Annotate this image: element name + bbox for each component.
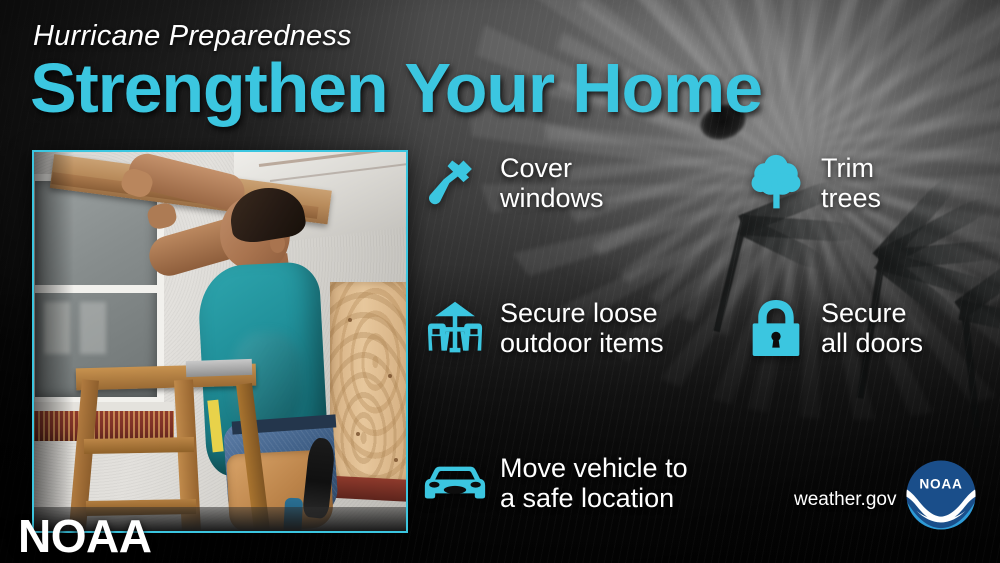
- tip-secure-outdoor-items: Secure loose outdoor items: [424, 297, 664, 359]
- photo-window-reflection: [80, 302, 106, 354]
- hurricane-preparedness-poster: Hurricane Preparedness Strengthen Your H…: [0, 0, 1000, 563]
- photo-plywood-panel: [330, 282, 408, 482]
- tip-label: Secure loose outdoor items: [500, 298, 664, 359]
- car-icon: [424, 452, 486, 514]
- tip-trim-trees: Trim trees: [745, 152, 881, 214]
- tip-label: Cover windows: [500, 153, 604, 214]
- tip-label: Trim trees: [821, 153, 881, 214]
- photo-left-shade: [34, 152, 74, 533]
- hammer-icon: [424, 152, 486, 214]
- page-title: Strengthen Your Home: [30, 53, 762, 123]
- tip-secure-all-doors: Secure all doors: [745, 297, 923, 359]
- photo-ladder-cap: [186, 359, 253, 377]
- noaa-logo[interactable]: NOAA: [905, 459, 977, 531]
- photo-brick-band: [334, 476, 408, 502]
- patio-furniture-icon: [424, 297, 486, 359]
- tip-label: Move vehicle to a safe location: [500, 453, 688, 514]
- tip-move-vehicle: Move vehicle to a safe location: [424, 452, 688, 514]
- weather-gov-url[interactable]: weather.gov: [794, 489, 896, 511]
- preparedness-photo: [32, 150, 408, 533]
- padlock-icon: [745, 297, 807, 359]
- noaa-logo-text: NOAA: [919, 477, 962, 492]
- photo-ladder-step: [84, 437, 194, 454]
- noaa-wordmark: NOAA: [18, 513, 151, 559]
- tip-cover-windows: Cover windows: [424, 152, 604, 214]
- tip-label: Secure all doors: [821, 298, 923, 359]
- tree-icon: [745, 152, 807, 214]
